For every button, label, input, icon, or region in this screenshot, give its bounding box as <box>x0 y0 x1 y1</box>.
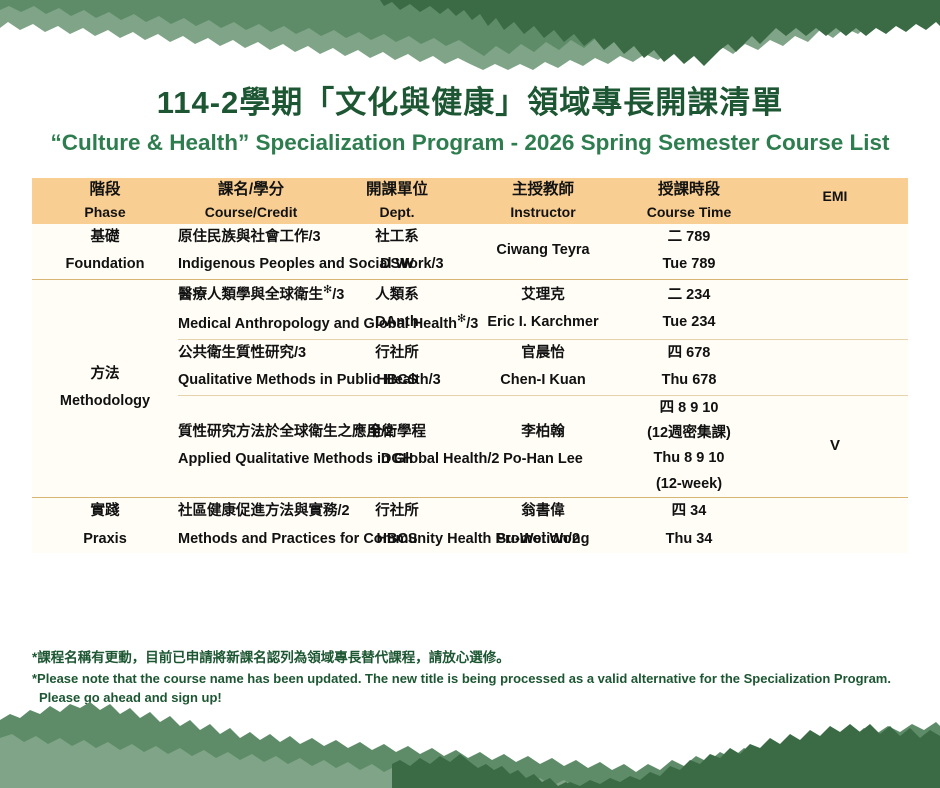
top-forest-decoration <box>0 0 940 78</box>
cell-phase: 基礎 Foundation <box>32 224 178 280</box>
table-row: 基礎 Foundation 原住民族與社會工作/3 Indigenous Peo… <box>32 224 908 280</box>
course-en: Methods and Practices for Community Heal… <box>178 526 324 554</box>
course-time-line-1: 二 234 <box>616 282 762 310</box>
instructor-zh: 艾理克 <box>470 282 616 310</box>
cell-course: 公共衛生質性研究/3 Qualitative Methods in Public… <box>178 339 324 395</box>
deco-top-layer-light <box>0 0 940 70</box>
deco-bottom-layer-light <box>0 734 576 788</box>
title-block: 114-2學期「文化與健康」領域專長開課清單 “Culture & Health… <box>0 78 940 157</box>
course-time-line-2: Thu 34 <box>616 526 762 554</box>
page-title-zh: 114-2學期「文化與健康」領域專長開課清單 <box>0 78 940 123</box>
course-time-line-1: 四 34 <box>616 498 762 526</box>
table-row: 方法 Methodology 醫療人類學與全球衛生✻/3 Medical Ant… <box>32 279 908 339</box>
deco-top-layer-mid <box>0 0 940 56</box>
instructor-en: Chen-I Kuan <box>470 367 616 395</box>
col-header-phase: 階段 Phase <box>32 178 178 224</box>
col-header-course-en: Course/Credit <box>178 202 324 224</box>
page-title-en: “Culture & Health” Specialization Progra… <box>0 123 940 157</box>
cell-instructor: 官晨怡 Chen-I Kuan <box>470 339 616 395</box>
course-en: Indigenous Peoples and Social Work/3 <box>178 251 324 279</box>
col-header-phase-zh: 階段 <box>32 178 178 202</box>
deco-bottom-layer-dark <box>0 724 940 788</box>
cell-instructor: 李柏翰 Po-Han Lee <box>470 395 616 498</box>
col-header-phase-en: Phase <box>32 202 178 224</box>
phase-en: Foundation <box>32 251 178 279</box>
cell-emi <box>762 279 908 339</box>
footnote-en-line-1: *Please note that the course name has be… <box>32 669 912 689</box>
cell-emi <box>762 339 908 395</box>
dept-zh: 行社所 <box>324 340 470 368</box>
col-header-course-time: 授課時段 Course Time <box>616 178 762 224</box>
dept-zh: 社工系 <box>324 224 470 252</box>
course-en: Medical Anthropology and Global Health✻/… <box>178 309 324 338</box>
course-time-line-2: Thu 678 <box>616 367 762 395</box>
phase-en: Praxis <box>32 526 178 554</box>
phase-zh: 實踐 <box>32 498 178 526</box>
cell-course-time: 二 234 Tue 234 <box>616 279 762 339</box>
deco-bottom-layer-mid <box>0 702 940 788</box>
col-header-course-time-en: Course Time <box>616 202 762 224</box>
course-zh: 質性研究方法於全球衛生之應用/2 <box>178 419 324 447</box>
course-time-line-2: Tue 234 <box>616 309 762 337</box>
table-header-row: 階段 Phase 課名/學分 Course/Credit 開課單位 Dept. … <box>32 178 908 224</box>
footnote-star-icon: ✻ <box>323 284 332 296</box>
footnote-en-line-2: Please go ahead and sign up! <box>32 688 912 708</box>
cell-course: 社區健康促進方法與實務/2 Methods and Practices for … <box>178 498 324 554</box>
table-row: 實踐 Praxis 社區健康促進方法與實務/2 Methods and Prac… <box>32 498 908 554</box>
col-header-dept-en: Dept. <box>324 202 470 224</box>
table-body: 基礎 Foundation 原住民族與社會工作/3 Indigenous Peo… <box>32 224 908 554</box>
col-header-instructor-en: Instructor <box>470 202 616 224</box>
course-zh: 社區健康促進方法與實務/2 <box>178 498 324 526</box>
dept-zh: 人類系 <box>324 282 470 310</box>
course-table-wrap: 階段 Phase 課名/學分 Course/Credit 開課單位 Dept. … <box>32 178 908 553</box>
course-time-line-3: Thu 8 9 10 <box>616 446 762 471</box>
course-zh: 醫療人類學與全球衛生✻/3 <box>178 280 324 309</box>
course-zh: 公共衛生質性研究/3 <box>178 340 324 368</box>
cell-course-time: 四 8 9 10 (12週密集課) Thu 8 9 10 (12-week) <box>616 395 762 498</box>
deco-bottom-layer-dark-2 <box>392 754 574 788</box>
footnote-star-icon: ✻ <box>457 313 466 325</box>
cell-course: 質性研究方法於全球衛生之應用/2 Applied Qualitative Met… <box>178 395 324 498</box>
instructor-zh: 李柏翰 <box>470 419 616 447</box>
deco-top-layer-dark <box>380 0 940 66</box>
instructor-en: Eric I. Karchmer <box>470 309 616 337</box>
table-head: 階段 Phase 課名/學分 Course/Credit 開課單位 Dept. … <box>32 178 908 224</box>
course-time-line-2: Tue 789 <box>616 251 762 279</box>
col-header-dept-zh: 開課單位 <box>324 178 470 202</box>
col-header-instructor: 主授教師 Instructor <box>470 178 616 224</box>
col-header-instructor-zh: 主授教師 <box>470 178 616 202</box>
col-header-course-zh: 課名/學分 <box>178 178 324 202</box>
cell-course-time: 二 789 Tue 789 <box>616 224 762 280</box>
cell-phase: 方法 Methodology <box>32 279 178 497</box>
course-time-line-1: 二 789 <box>616 224 762 252</box>
footnote-zh: *課程名稱有更動，目前已申請將新課名認列為領域專長替代課程，請放心選修。 <box>32 648 912 669</box>
col-header-dept: 開課單位 Dept. <box>324 178 470 224</box>
phase-zh: 方法 <box>32 361 178 389</box>
course-en: Applied Qualitative Methods in Global He… <box>178 446 324 474</box>
course-zh: 原住民族與社會工作/3 <box>178 224 324 252</box>
course-time-line-1: 四 8 9 10 <box>616 396 762 421</box>
phase-zh: 基礎 <box>32 224 178 252</box>
cell-instructor: 艾理克 Eric I. Karchmer <box>470 279 616 339</box>
cell-dept: 全衛學程 DGH <box>324 395 470 498</box>
course-table: 階段 Phase 課名/學分 Course/Credit 開課單位 Dept. … <box>32 178 908 553</box>
cell-phase: 實踐 Praxis <box>32 498 178 554</box>
cell-emi: V <box>762 395 908 498</box>
course-en: Qualitative Methods in Public Health/3 <box>178 367 324 395</box>
col-header-course-time-zh: 授課時段 <box>616 178 762 202</box>
cell-emi <box>762 498 908 554</box>
cell-course: 醫療人類學與全球衛生✻/3 Medical Anthropology and G… <box>178 279 324 339</box>
bottom-forest-decoration <box>0 698 940 788</box>
instructor-zh: 官晨怡 <box>470 340 616 368</box>
footnotes: *課程名稱有更動，目前已申請將新課名認列為領域專長替代課程，請放心選修。 *Pl… <box>32 648 912 708</box>
cell-course-time: 四 34 Thu 34 <box>616 498 762 554</box>
course-time-line-1: 四 678 <box>616 340 762 368</box>
col-header-course: 課名/學分 Course/Credit <box>178 178 324 224</box>
course-time-line-2: (12週密集課) <box>616 421 762 446</box>
cell-course-time: 四 678 Thu 678 <box>616 339 762 395</box>
col-header-emi: EMI <box>762 178 908 224</box>
instructor-zh: 翁書偉 <box>470 498 616 526</box>
course-time-line-4: (12-week) <box>616 472 762 497</box>
cell-emi <box>762 224 908 280</box>
cell-course: 原住民族與社會工作/3 Indigenous Peoples and Socia… <box>178 224 324 280</box>
instructor-en: Ciwang Teyra <box>470 237 616 265</box>
phase-en: Methodology <box>32 388 178 416</box>
cell-instructor: Ciwang Teyra <box>470 224 616 280</box>
